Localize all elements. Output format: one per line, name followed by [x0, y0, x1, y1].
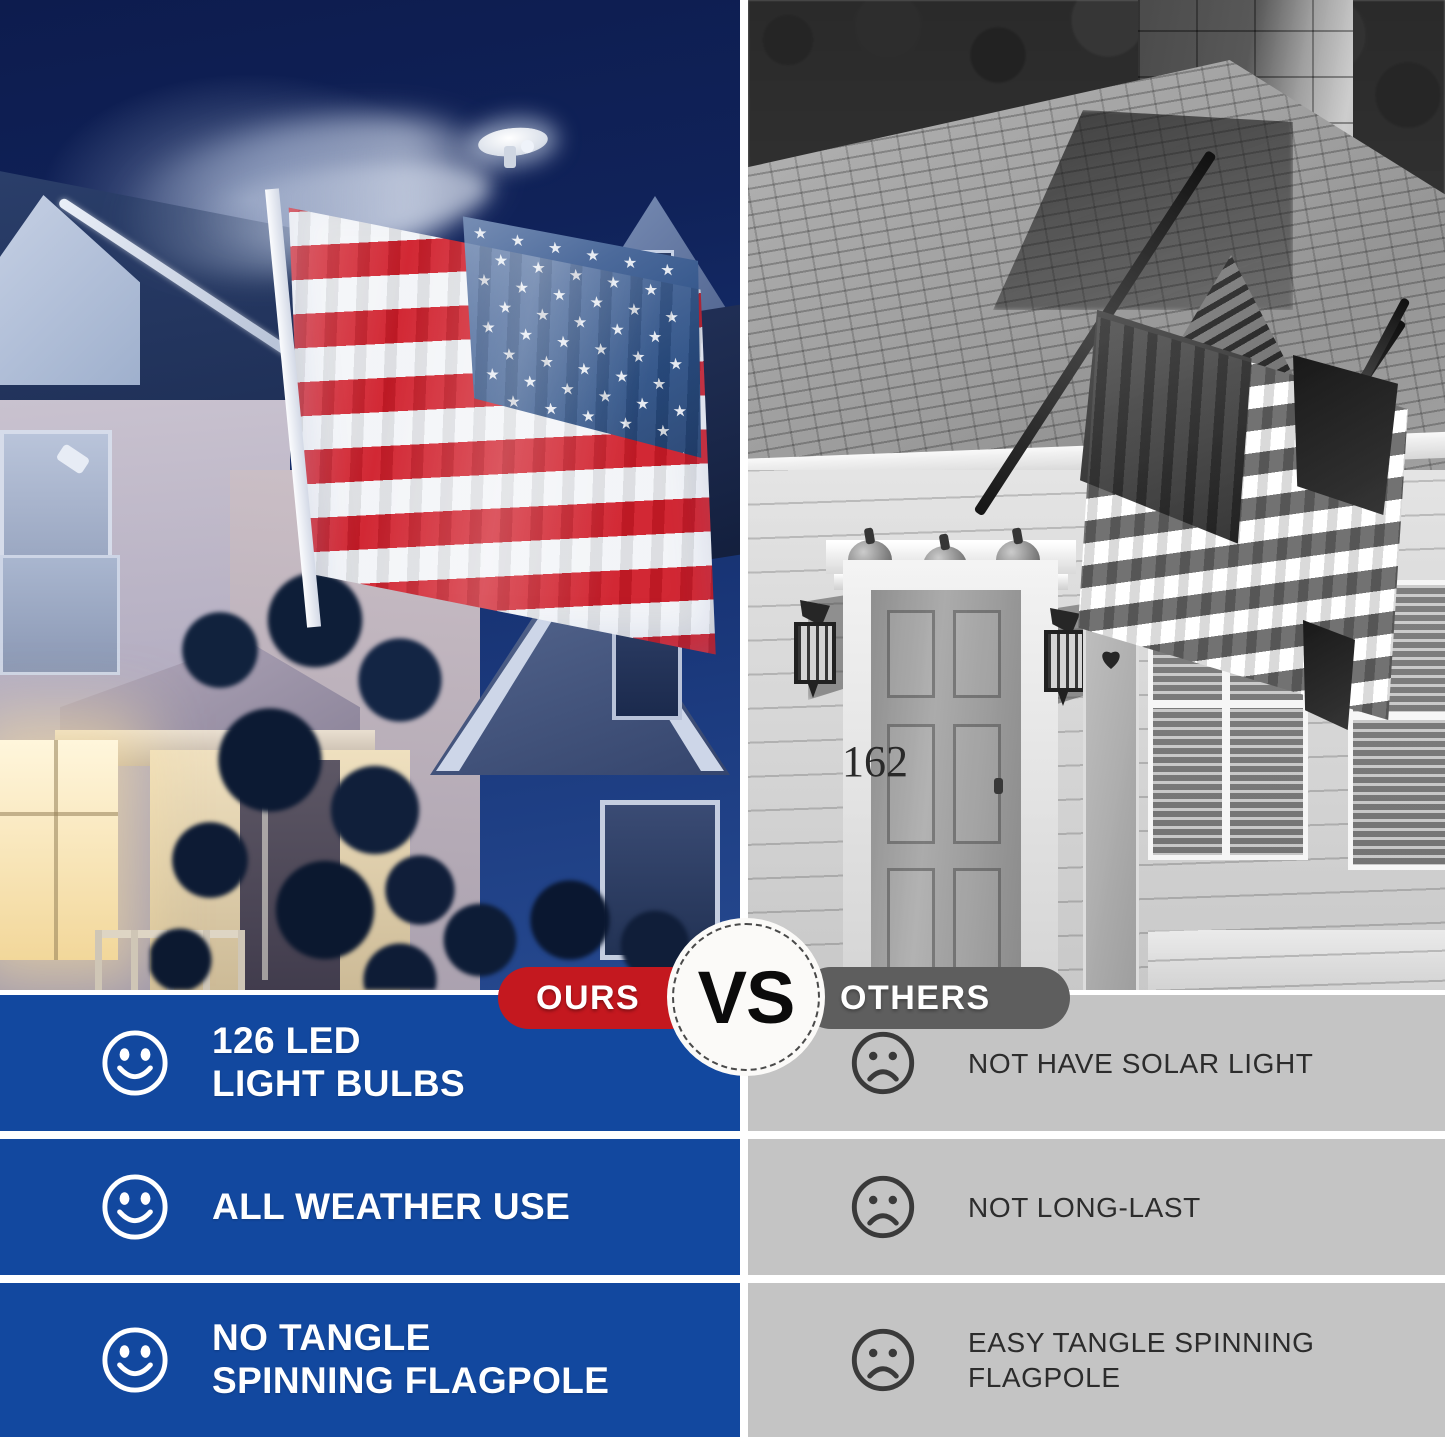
ours-badge-label: OURS	[536, 979, 640, 1018]
ours-feature-column: 126 LED LIGHT BULBS ALL WEATHER USE	[0, 995, 740, 1445]
photo-divider	[740, 0, 748, 990]
flag-light-sheen	[269, 179, 732, 655]
house-number: 162	[842, 740, 868, 870]
feature-label: ALL WEATHER USE	[212, 1186, 570, 1229]
lit-window	[0, 740, 118, 960]
tangled-american-flag	[1078, 300, 1408, 720]
feature-label: EASY TANGLE SPINNING FLAGPOLE	[968, 1325, 1315, 1395]
lantern-finial	[1058, 692, 1068, 706]
feature-label: NOT LONG-LAST	[968, 1190, 1201, 1225]
smiley-face-icon	[100, 1172, 170, 1242]
feature-row: EASY TANGLE SPINNING FLAGPOLE	[748, 1283, 1445, 1437]
lantern-finial	[808, 684, 818, 698]
flag-star-icon	[661, 263, 675, 276]
door-knob	[994, 778, 1003, 794]
feature-label: NOT HAVE SOLAR LIGHT	[968, 1046, 1313, 1081]
feature-label: NO TANGLE SPINNING FLAGPOLE	[212, 1317, 609, 1403]
photo-comparison-area: 162	[0, 0, 1445, 990]
vs-badge: VS	[672, 923, 820, 1071]
feature-row: NOT LONG-LAST	[748, 1139, 1445, 1283]
smiley-face-icon	[100, 1325, 170, 1395]
flag-star-icon	[623, 256, 637, 269]
american-flag	[269, 179, 732, 655]
vs-badge-row: OURS OTHERS VS	[0, 955, 1445, 1045]
wall-lantern-left	[788, 600, 840, 700]
solar-light-stem	[504, 146, 516, 168]
upper-window-left-2	[0, 555, 120, 675]
sad-face-icon	[848, 1325, 918, 1395]
flag-star-icon	[511, 234, 525, 247]
sad-face-icon	[848, 1172, 918, 1242]
lantern-body	[794, 622, 836, 684]
vs-badge-label: VS	[698, 955, 795, 1040]
others-daylight-photo: 162	[748, 0, 1445, 990]
flag-star-icon	[548, 241, 562, 254]
others-badge: OTHERS	[800, 967, 1070, 1029]
ours-night-photo	[0, 0, 740, 990]
flag-star-icon	[586, 249, 600, 262]
comparison-infographic: 162	[0, 0, 1445, 1445]
solar-light-knob	[521, 140, 534, 153]
flag-star-icon	[473, 227, 487, 240]
feature-row: NO TANGLE SPINNING FLAGPOLE	[0, 1283, 740, 1437]
feature-row: ALL WEATHER USE	[0, 1139, 740, 1283]
others-feature-column: NOT HAVE SOLAR LIGHT NOT LONG-LAST	[748, 995, 1445, 1445]
flag-fabric-folds	[1078, 300, 1408, 720]
others-badge-label: OTHERS	[840, 979, 991, 1018]
